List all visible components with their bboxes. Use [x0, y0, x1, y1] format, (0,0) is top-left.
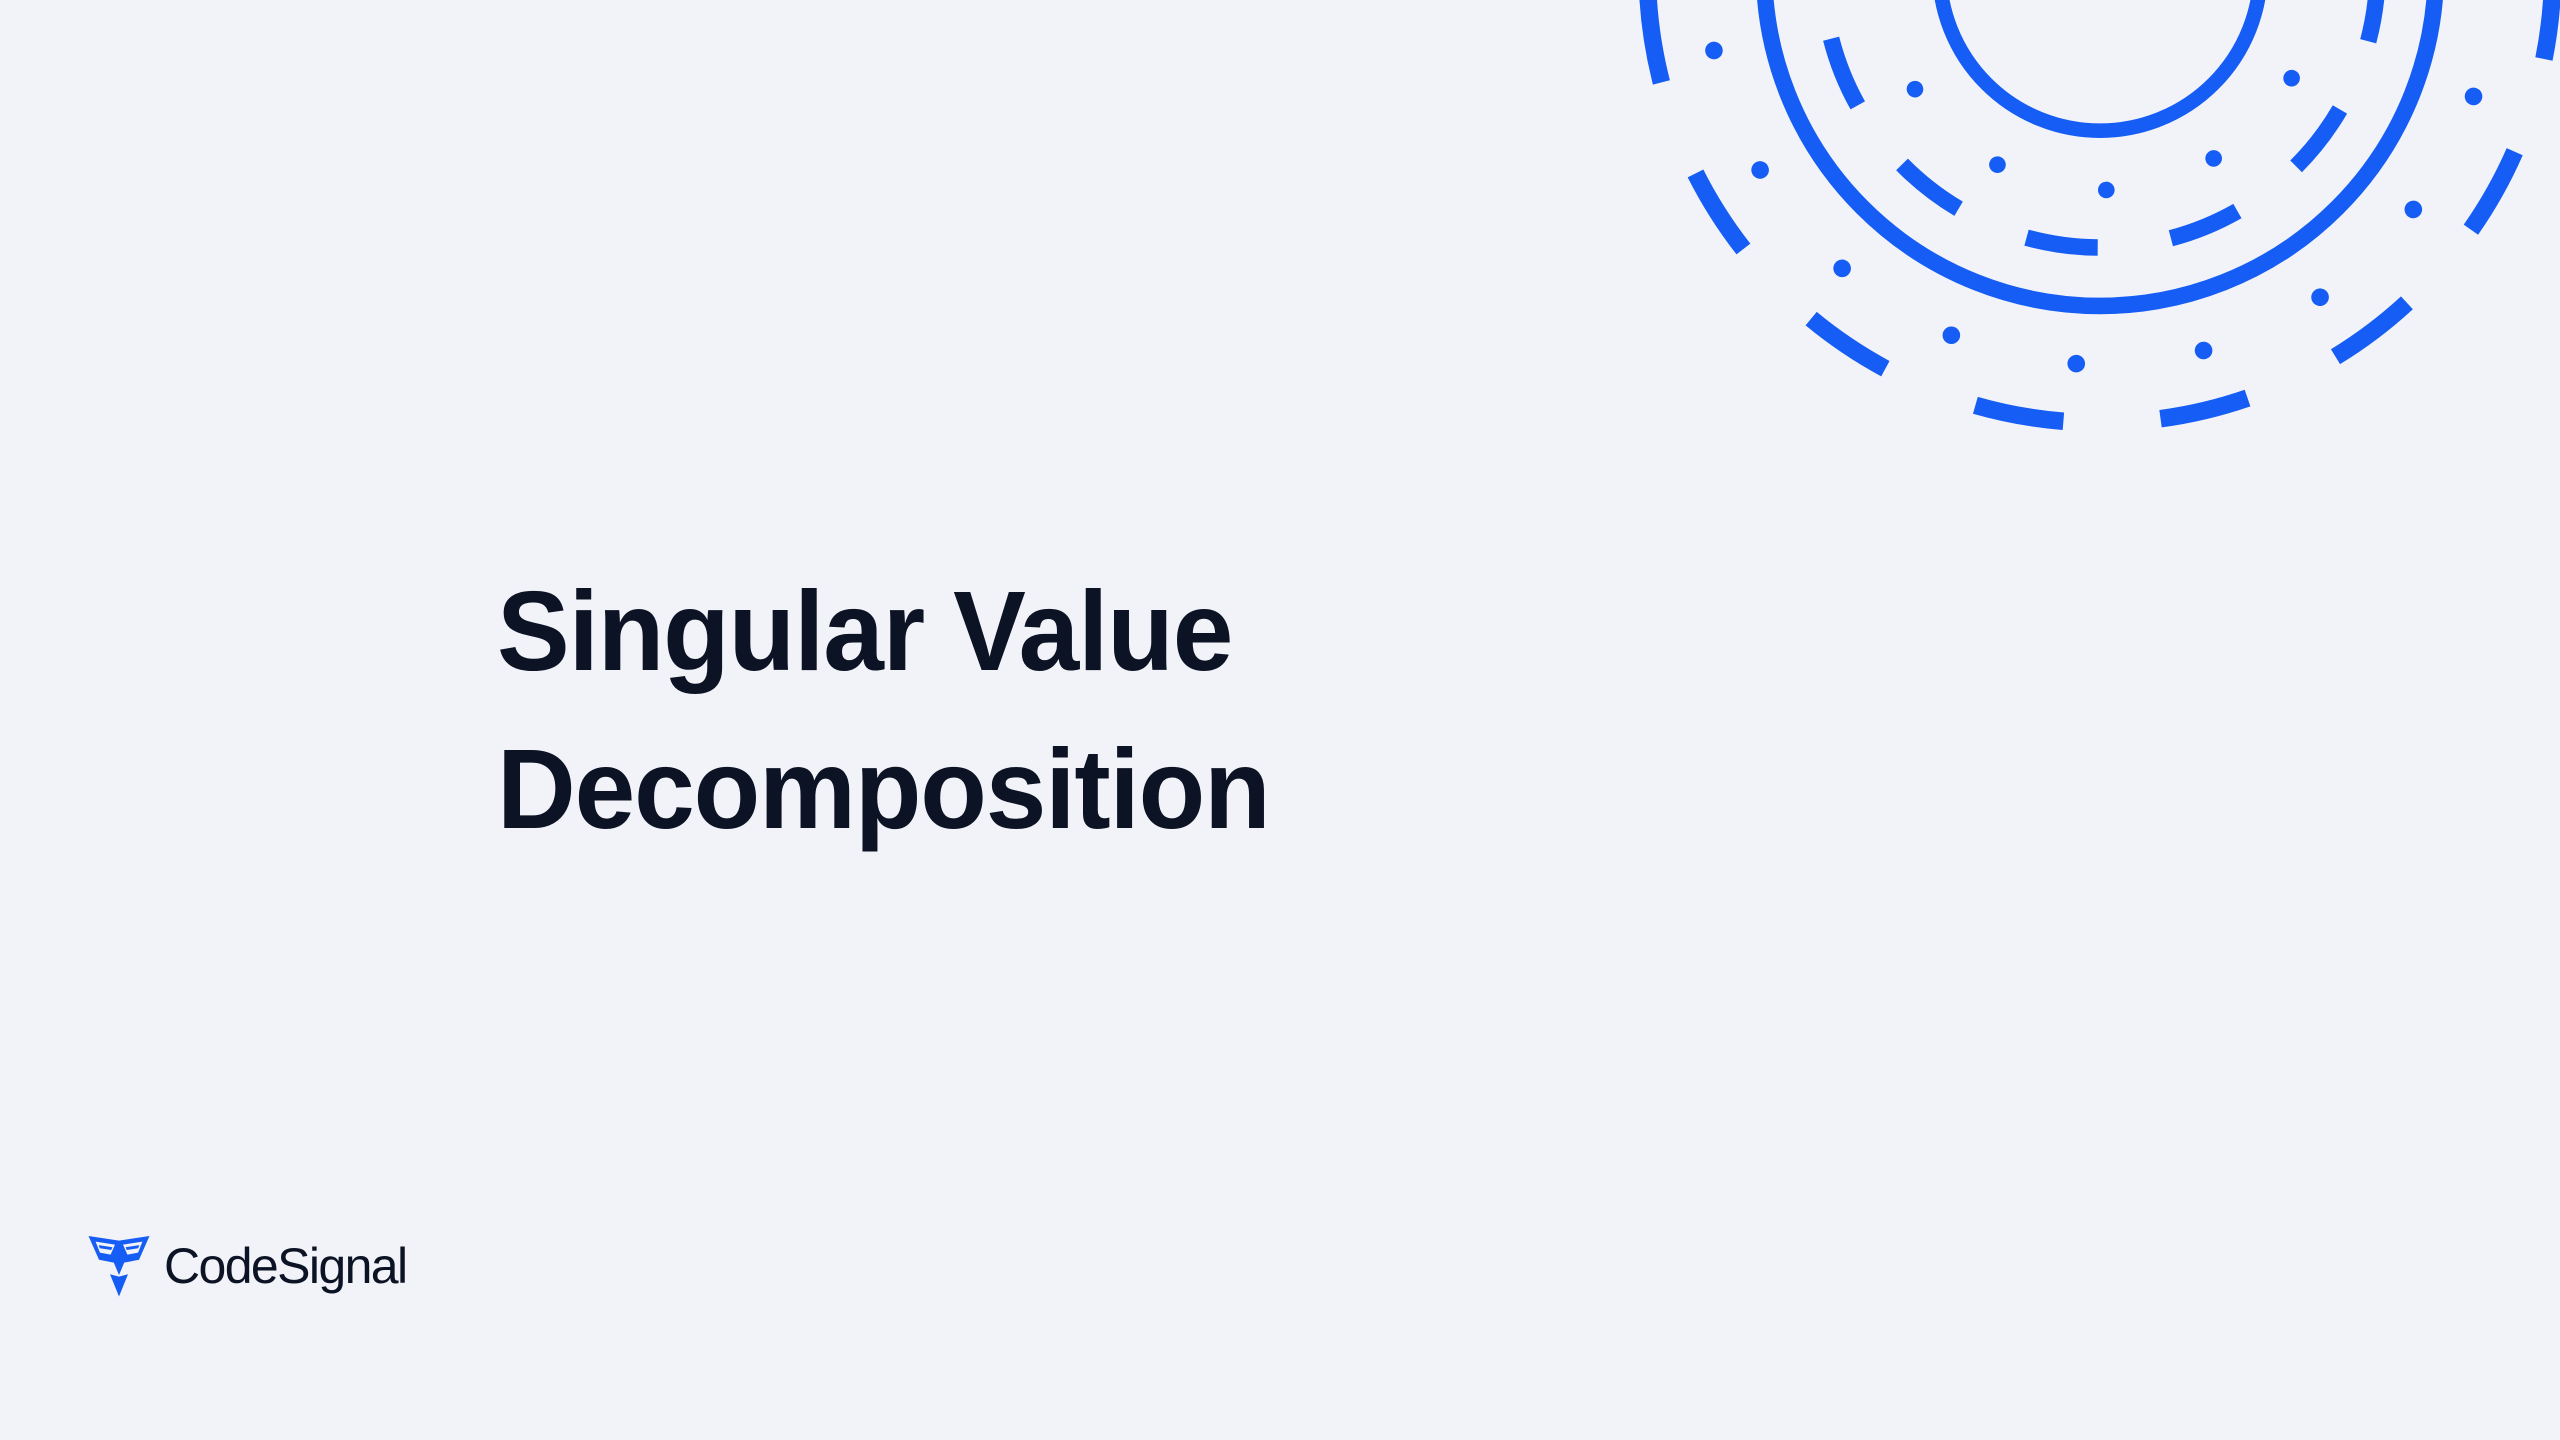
codesignal-winged-v-icon: [88, 1232, 150, 1300]
slide-title: Singular Value Decomposition: [497, 552, 1497, 868]
title-line-1: Singular Value: [497, 552, 1462, 710]
ring-dotted-outer: [1706, 0, 2495, 364]
ring-solid-inner: [1939, 0, 2260, 131]
codesignal-logo: CodeSignal: [88, 1232, 407, 1300]
ring-dotted-inner: [1880, 0, 2320, 190]
ring-dashed-outer: [1647, 0, 2553, 423]
slide-canvas: Singular Value Decomposition CodeSignal: [0, 0, 2560, 1440]
concentric-rings-graphic: [1730, 0, 2470, 350]
title-line-2: Decomposition: [497, 710, 1462, 868]
ring-solid-middle: [1764, 0, 2436, 306]
ring-dashed-inner: [1823, 0, 2378, 248]
brand-name: CodeSignal: [164, 1240, 407, 1292]
